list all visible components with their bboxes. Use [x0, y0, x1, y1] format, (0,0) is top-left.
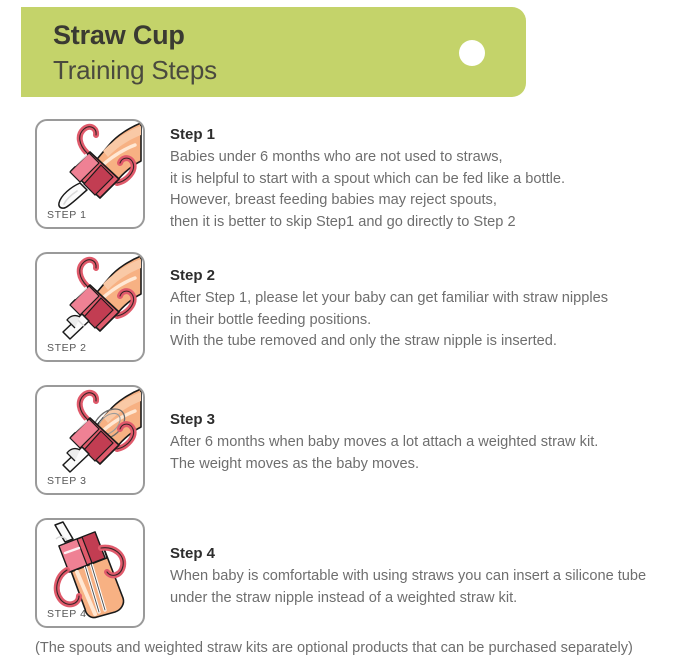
step-4-body: Step 4 When baby is comfortable with usi… — [170, 544, 675, 609]
step-3-body: Step 3 After 6 months when baby moves a … — [170, 410, 675, 475]
step-2-thumbnail: STEP 2 — [35, 252, 145, 362]
step-2-thumbnail-label: STEP 2 — [47, 342, 87, 354]
step-3-thumbnail-label: STEP 3 — [47, 475, 87, 487]
punch-hole-icon — [459, 40, 485, 66]
step-1-line-4: then it is better to skip Step1 and go d… — [170, 212, 675, 234]
step-4-line-2: under the straw nipple instead of a weig… — [170, 588, 675, 610]
step-4-thumbnail: STEP 4 — [35, 518, 145, 628]
step-1-line-1: Babies under 6 months who are not used t… — [170, 147, 675, 169]
step-3-thumbnail: STEP 3 — [35, 385, 145, 495]
step-4-thumbnail-label: STEP 4 — [47, 608, 87, 620]
step-2-line-1: After Step 1, please let your baby can g… — [170, 288, 675, 310]
step-2-line-3: With the tube removed and only the straw… — [170, 331, 675, 353]
step-4-line-1: When baby is comfortable with using stra… — [170, 566, 675, 588]
step-1-body: Step 1 Babies under 6 months who are not… — [170, 125, 675, 233]
step-1-line-2: it is helpful to start with a spout whic… — [170, 169, 675, 191]
step-2-heading: Step 2 — [170, 266, 675, 286]
page-subtitle: Training Steps — [53, 55, 217, 86]
step-3-line-2: The weight moves as the baby moves. — [170, 454, 675, 476]
step-2-body: Step 2 After Step 1, please let your bab… — [170, 266, 675, 353]
page-title: Straw Cup — [53, 20, 185, 51]
footer-note: (The spouts and weighted straw kits are … — [35, 640, 633, 656]
step-1-heading: Step 1 — [170, 125, 675, 145]
step-1-line-3: However, breast feeding babies may rejec… — [170, 190, 675, 212]
step-1-thumbnail-label: STEP 1 — [47, 209, 87, 221]
step-3-line-1: After 6 months when baby moves a lot att… — [170, 432, 675, 454]
step-2-line-2: in their bottle feeding positions. — [170, 310, 675, 332]
step-1-thumbnail: STEP 1 — [35, 119, 145, 229]
header-banner: Straw Cup Training Steps — [21, 7, 526, 97]
step-3-heading: Step 3 — [170, 410, 675, 430]
step-4-heading: Step 4 — [170, 544, 675, 564]
